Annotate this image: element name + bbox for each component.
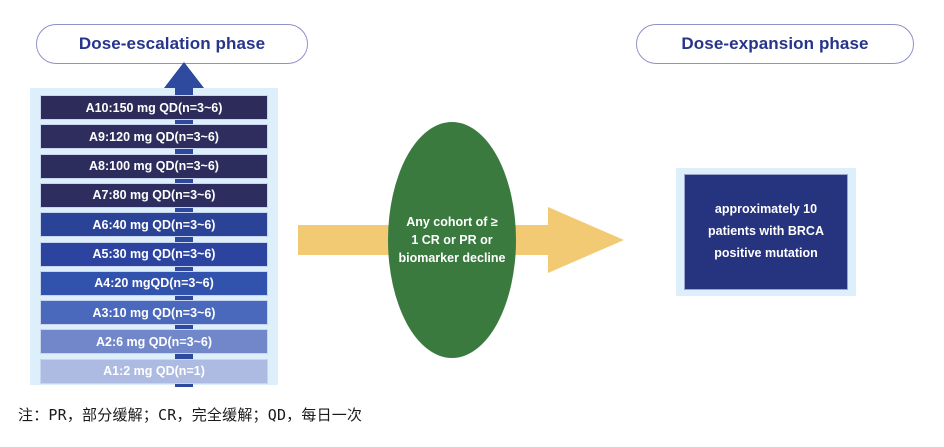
dose-expansion-phase-pill: Dose-expansion phase: [636, 24, 914, 64]
dose-level-bar: A8:100 mg QD(n=3~6): [40, 154, 268, 179]
dose-escalation-phase-label: Dose-escalation phase: [79, 34, 265, 54]
dose-level-bar: A2:6 mg QD(n=3~6): [40, 329, 268, 354]
dose-level-label: A6:40 mg QD(n=3~6): [93, 218, 216, 232]
dose-level-label: A7:80 mg QD(n=3~6): [93, 188, 216, 202]
dose-level-label: A4:20 mgQD(n=3~6): [94, 276, 213, 290]
diagram-canvas: Dose-escalation phase Dose-expansion pha…: [0, 0, 944, 447]
dose-level-label: A10:150 mg QD(n=3~6): [86, 101, 223, 115]
abbreviation-footnote: 注：PR，部分缓解；CR，完全缓解；QD，每日一次: [18, 404, 362, 425]
dose-level-bar: A4:20 mgQD(n=3~6): [40, 271, 268, 296]
dose-level-label: A3:10 mg QD(n=3~6): [93, 306, 216, 320]
dose-level-label: A5:30 mg QD(n=3~6): [93, 247, 216, 261]
dose-level-label: A8:100 mg QD(n=3~6): [89, 159, 219, 173]
dose-level-bar: A3:10 mg QD(n=3~6): [40, 300, 268, 325]
expansion-cohort-text: approximately 10 patients with BRCA posi…: [708, 199, 824, 265]
dose-level-bar: A5:30 mg QD(n=3~6): [40, 242, 268, 267]
dose-bars-container: A10:150 mg QD(n=3~6)A9:120 mg QD(n=3~6)A…: [30, 88, 278, 385]
dose-level-bar: A9:120 mg QD(n=3~6): [40, 124, 268, 149]
dose-level-bar: A6:40 mg QD(n=3~6): [40, 212, 268, 237]
dose-level-label: A2:6 mg QD(n=3~6): [96, 335, 212, 349]
expansion-cohort-box: approximately 10 patients with BRCA posi…: [684, 174, 848, 290]
dose-escalation-phase-pill: Dose-escalation phase: [36, 24, 308, 64]
dose-level-bar: A10:150 mg QD(n=3~6): [40, 95, 268, 120]
dose-level-bar: A7:80 mg QD(n=3~6): [40, 183, 268, 208]
dose-escalation-ladder-panel: A10:150 mg QD(n=3~6)A9:120 mg QD(n=3~6)A…: [30, 88, 278, 385]
dose-level-label: A1:2 mg QD(n=1): [103, 364, 205, 378]
escalation-criteria-ellipse: Any cohort of ≥ 1 CR or PR or biomarker …: [388, 122, 516, 358]
dose-level-bar: A1:2 mg QD(n=1): [40, 359, 268, 384]
dose-level-label: A9:120 mg QD(n=3~6): [89, 130, 219, 144]
escalation-criteria-text: Any cohort of ≥ 1 CR or PR or biomarker …: [395, 213, 510, 267]
dose-expansion-phase-label: Dose-expansion phase: [681, 34, 868, 54]
